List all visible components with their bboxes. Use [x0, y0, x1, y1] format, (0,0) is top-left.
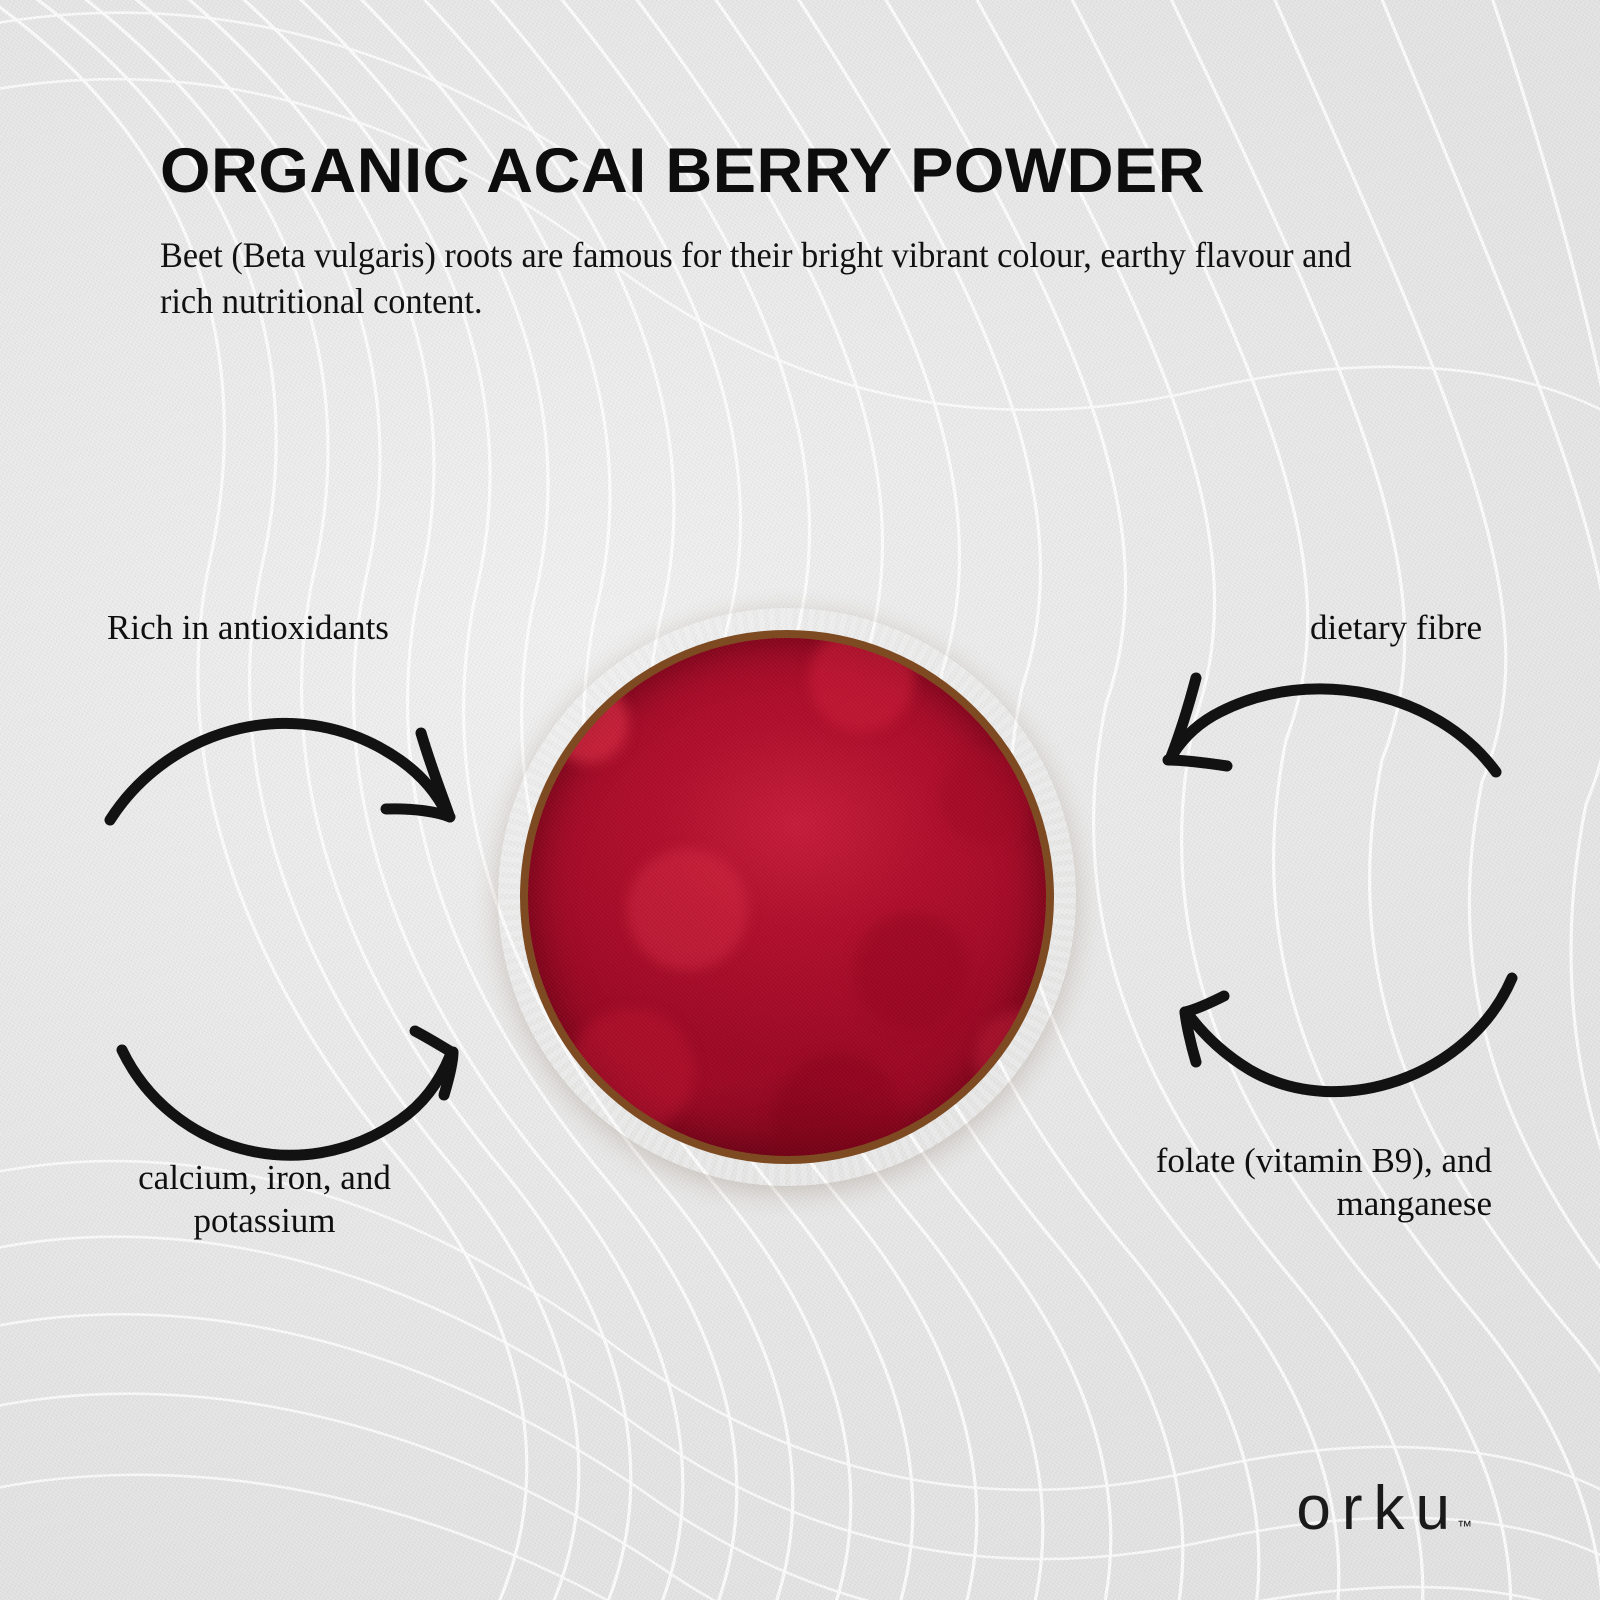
- label-folate-manganese: folate (vitamin B9), and manganese: [1072, 1140, 1492, 1225]
- page-subtitle: Beet (Beta vulgaris) roots are famous fo…: [160, 232, 1381, 324]
- acai-berry-powder: [528, 638, 1046, 1156]
- product-bowl-image: [498, 608, 1076, 1186]
- label-rich-in-antioxidants: Rich in antioxidants: [107, 607, 507, 650]
- label-dietary-fibre: dietary fibre: [1062, 607, 1482, 650]
- brand-name: orku: [1296, 1478, 1461, 1540]
- brand-logo: orku ™: [1296, 1478, 1472, 1540]
- powder-shading: [528, 638, 1046, 1156]
- label-calcium-iron-potassium: calcium, iron, and potassium: [92, 1157, 437, 1242]
- infographic-poster: ORGANIC ACAI BERRY POWDER Beet (Beta vul…: [0, 0, 1600, 1600]
- page-title: ORGANIC ACAI BERRY POWDER: [160, 138, 1458, 204]
- trademark-symbol: ™: [1457, 1519, 1472, 1534]
